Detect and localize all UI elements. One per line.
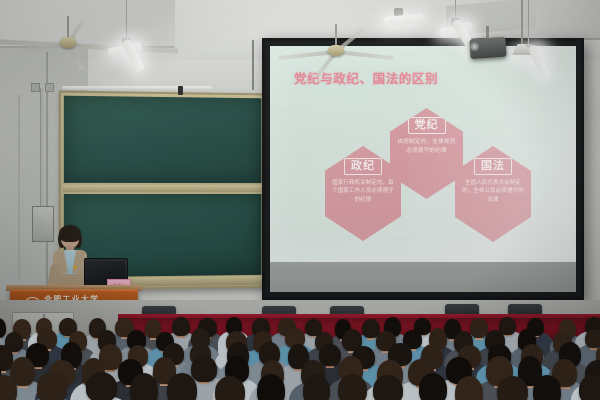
slide-title: 党纪与政纪、国法的区别 — [294, 68, 438, 87]
audience-head — [191, 356, 217, 382]
audience-head — [37, 372, 67, 400]
audience-head — [172, 317, 190, 336]
audience-head — [533, 375, 561, 400]
light-wire — [528, 0, 529, 44]
fan-hub — [328, 45, 344, 56]
wall-conduit — [40, 88, 43, 208]
audience-head — [419, 373, 447, 400]
hexagon-body-text: 国家行政机关制定的，每个国家工作人员必须遵守的纪律 — [331, 179, 395, 206]
presentation-slide: 党纪与政纪、国法的区别 党纪 由党制定的，全体党员必须遵守的纪律 政纪 国家行政… — [270, 46, 576, 262]
hexagon-body-text: 全国人民代表大会制定的，全体公民必须遵守的法律 — [461, 179, 525, 206]
electrical-box-icon — [31, 83, 40, 92]
slide-hexagon-guofa: 国法 全国人民代表大会制定的，全体公民必须遵守的法律 — [455, 146, 531, 242]
blackboard-light-fixture — [178, 86, 183, 95]
blackboard-light-tube — [62, 86, 212, 90]
projection-screen: 党纪与政纪、国法的区别 党纪 由党制定的，全体党员必须遵守的纪律 政纪 国家行政… — [262, 38, 584, 300]
lecture-hall-photo: 党纪与政纪、国法的区别 党纪 由党制定的，全体党员必须遵守的纪律 政纪 国家行政… — [0, 0, 600, 400]
audience-head — [585, 329, 600, 348]
blackboard-upper-panel — [64, 96, 262, 183]
audience-head — [373, 375, 403, 400]
slide-hexagon-zhengji: 政纪 国家行政机关制定的，每个国家工作人员必须遵守的纪律 — [325, 146, 401, 241]
projector-lens-icon — [470, 42, 479, 51]
hexagon-body-text: 由党制定的，全体党员必须遵守的纪律 — [396, 138, 457, 156]
audience-head — [257, 374, 285, 400]
presenter-hair — [59, 225, 81, 242]
electrical-box-icon — [45, 83, 54, 92]
hexagon-heading: 政纪 — [344, 158, 382, 175]
hexagon-heading: 党纪 — [408, 117, 446, 134]
wall-antenna — [252, 40, 254, 90]
fan-hub — [60, 37, 76, 48]
presenter-badge-icon — [73, 265, 77, 269]
screen-blank-band — [270, 262, 576, 292]
screen-surface: 党纪与政纪、国法的区别 党纪 由党制定的，全体党员必须遵守的纪律 政纪 国家行政… — [270, 46, 576, 292]
audience-head — [497, 376, 528, 400]
light-wire — [126, 0, 127, 38]
pendant-wire — [521, 0, 523, 46]
audience-head — [319, 344, 341, 366]
audience-head — [167, 373, 197, 400]
audience-head — [303, 375, 330, 400]
blackboard-divider-rail — [63, 185, 263, 192]
audience-head — [130, 373, 158, 400]
audience-head — [215, 376, 245, 400]
hexagon-heading: 国法 — [474, 158, 512, 175]
audience-head — [86, 372, 117, 400]
audience-head — [338, 374, 367, 400]
wall-conduit — [18, 95, 20, 280]
light-wire — [455, 0, 456, 18]
